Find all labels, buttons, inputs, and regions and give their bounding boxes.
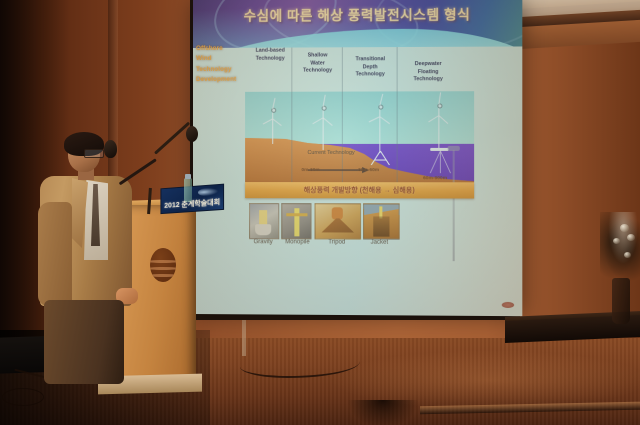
flower-bloom [613, 238, 620, 244]
projection-screen: 수심에 따른 해상 풍력발전시스템 형식 Land-based Technolo… [193, 0, 522, 316]
water-bottle-cap [185, 174, 191, 179]
thumbnail-jacket [363, 203, 400, 239]
conference-sign-text: 2012 춘계학술대회 [161, 197, 223, 211]
current-technology-arrow [307, 160, 370, 164]
col-line: Technology [344, 71, 397, 79]
flower-bloom [624, 252, 631, 258]
turbine-tower [272, 110, 273, 144]
flower-bloom [627, 234, 635, 241]
column-header-shallow-water: Shallow Water Technology [293, 52, 341, 75]
jacket-frame [373, 216, 389, 236]
microphone-head-icon [104, 140, 117, 158]
podium-conference-sign: 2012 춘계학술대회 [160, 184, 224, 214]
depth-label-deepwater: 60m-900m [423, 176, 447, 181]
speaker-presenter [32, 132, 142, 382]
tripod-legs [322, 218, 354, 232]
speaker-arm [38, 202, 72, 306]
slide-title: 수심에 따른 해상 풍력발전시스템 형식 [193, 3, 522, 25]
turbine-tower [438, 105, 439, 149]
second-microphone-head-icon [186, 126, 198, 142]
flower-vase [612, 278, 630, 324]
column-header-deepwater-floating: Deepwater Floating Technology [401, 61, 456, 84]
column-header-transitional-depth: Transitional Depth Technology [344, 56, 397, 79]
conference-logo-icon [198, 187, 218, 196]
speaker-glasses [84, 149, 104, 158]
water-bottle [184, 178, 192, 202]
col-line: Depth [344, 64, 397, 72]
slide-corner-logo-icon [502, 302, 514, 308]
foundation-thumbnails-row: Gravity Monopile Tripod Jacket [245, 203, 474, 238]
thumbnail-gravity [249, 203, 279, 239]
label-line: Offshore [196, 44, 236, 55]
label-line: Wind [196, 54, 236, 65]
flower-bunch [600, 212, 640, 284]
emblem-wave-line [150, 274, 176, 277]
col-line: Shallow [293, 52, 341, 60]
foundation-label-tripod: Tripod [318, 239, 356, 245]
col-line: Technology [293, 67, 341, 75]
depth-label-transitional: 30m-60m [358, 168, 379, 173]
col-line: Water [293, 60, 341, 68]
foundation-label-monopile: Monopile [277, 239, 317, 245]
depth-cross-section-diagram: Current Technology 0m-30m 30m-60m 60m-90… [245, 91, 474, 182]
depth-label-shallow: 0m-30m [301, 168, 319, 173]
col-line: Technology [245, 55, 295, 63]
turbine-tower [323, 108, 324, 150]
development-direction-banner: 해상풍력 개발방향 (천해용 → 심해용) [245, 182, 474, 198]
label-line: Development [196, 75, 236, 86]
wave-oval-emblem-icon [150, 248, 176, 282]
conference-photo-scene: 수심에 따른 해상 풍력발전시스템 형식 Land-based Technolo… [0, 0, 640, 425]
column-header-land-based: Land-based Technology [245, 48, 295, 63]
col-line: Technology [401, 76, 456, 84]
column-header-row: Land-based Technology Shallow Water Tech… [245, 47, 468, 94]
speaker-lower-body [44, 300, 124, 384]
emblem-wave-line [150, 260, 176, 263]
flower-bloom [620, 224, 629, 232]
column-divider [291, 48, 292, 189]
thumbnail-tripod [315, 203, 362, 239]
offshore-wind-development-label: Offshore Wind Technology Development [196, 44, 236, 86]
column-divider [397, 47, 398, 188]
current-technology-label: Current Technology [307, 150, 354, 156]
foreground-silhouette [348, 400, 418, 425]
jacket-substructure [367, 151, 393, 165]
turbine-tower [379, 107, 380, 153]
gravity-caisson [255, 224, 271, 235]
banner-text: 해상풍력 개발방향 (천해용 → 심해용) [304, 185, 415, 195]
monopile-platform [286, 213, 307, 216]
label-line: Technology [196, 65, 236, 76]
thumbnail-monopile [281, 203, 311, 239]
emblem-wave-line [150, 267, 176, 270]
floor-cable-loop [2, 388, 44, 406]
floral-arrangement [600, 212, 640, 324]
col-line: Transitional [344, 56, 397, 64]
tripod-structure [332, 207, 343, 219]
mooring-lines [428, 151, 452, 173]
foundation-label-jacket: Jacket [360, 240, 399, 246]
col-line: Floating [401, 69, 456, 77]
